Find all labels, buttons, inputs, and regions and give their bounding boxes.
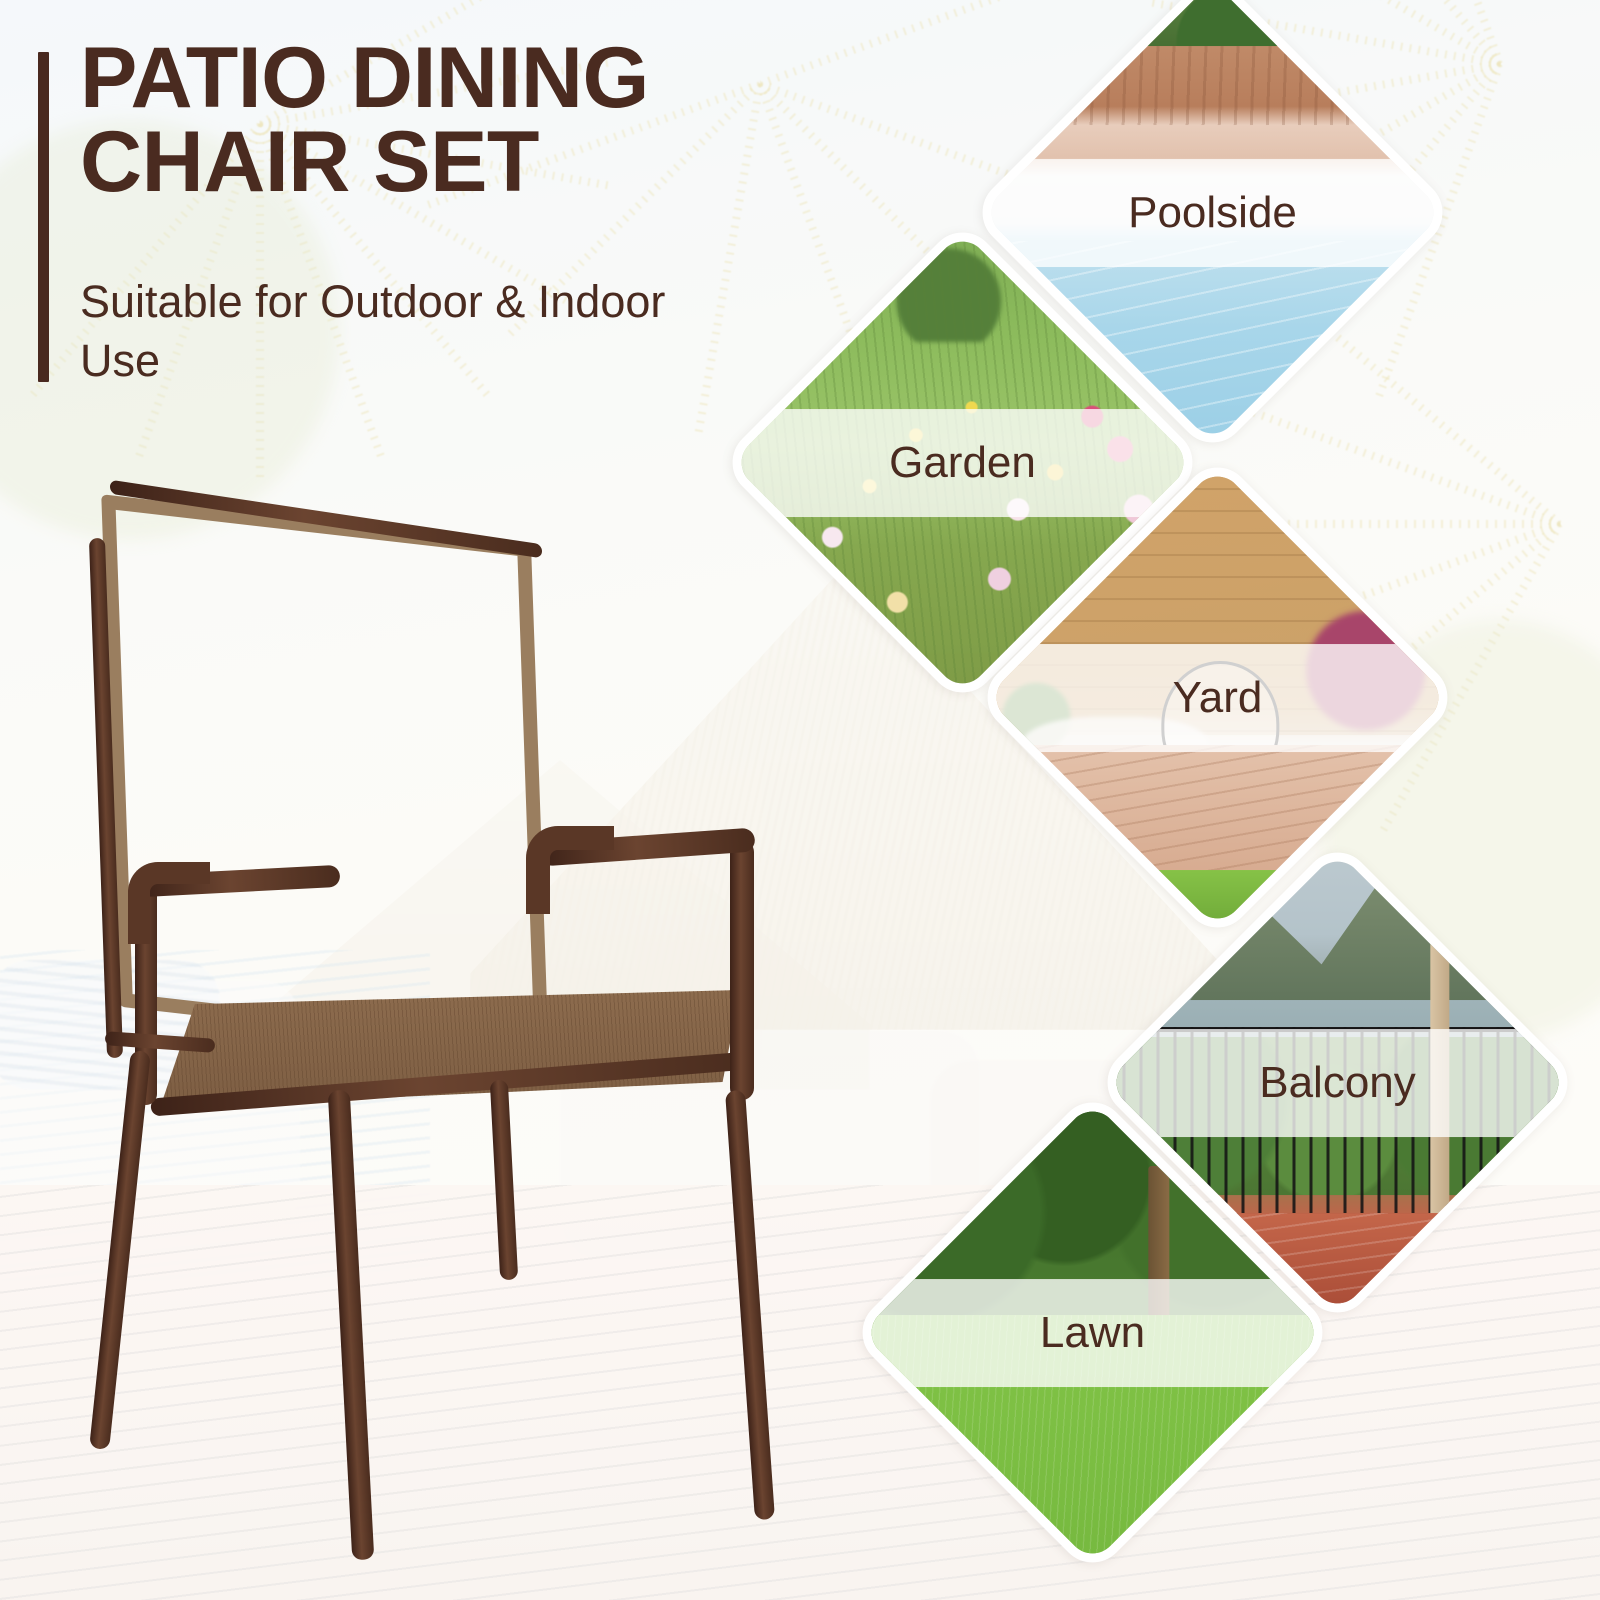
page-subtitle: Suitable for Outdoor & Indoor Use — [80, 272, 720, 391]
chair-leg-back-right — [725, 1090, 775, 1520]
chair-leg-front-right — [328, 1090, 375, 1561]
balcony-label: Balcony — [1105, 1028, 1569, 1136]
title-accent-bar — [38, 52, 49, 382]
lawn-label: Lawn — [860, 1278, 1324, 1386]
chair-armrest-right-curve — [526, 826, 614, 914]
poolside-label: Poolside — [980, 158, 1444, 266]
product-image-chair — [40, 490, 840, 1550]
chair-armrest-right — [730, 840, 754, 1100]
garden-label: Garden — [730, 408, 1194, 516]
marketing-banner: PATIO DINING CHAIR SET Suitable for Outd… — [0, 0, 1600, 1600]
chair-backrest-fabric — [101, 494, 549, 1056]
chair-leg-back-mid — [490, 1080, 518, 1281]
yard-label: Yard — [985, 643, 1449, 751]
title-line-2: CHAIR SET — [80, 120, 900, 204]
page-title: PATIO DINING CHAIR SET — [80, 36, 900, 205]
chair-armrest-left-curve — [128, 862, 210, 944]
chair-leg-front-left — [89, 1050, 151, 1450]
title-line-1: PATIO DINING — [80, 30, 649, 126]
